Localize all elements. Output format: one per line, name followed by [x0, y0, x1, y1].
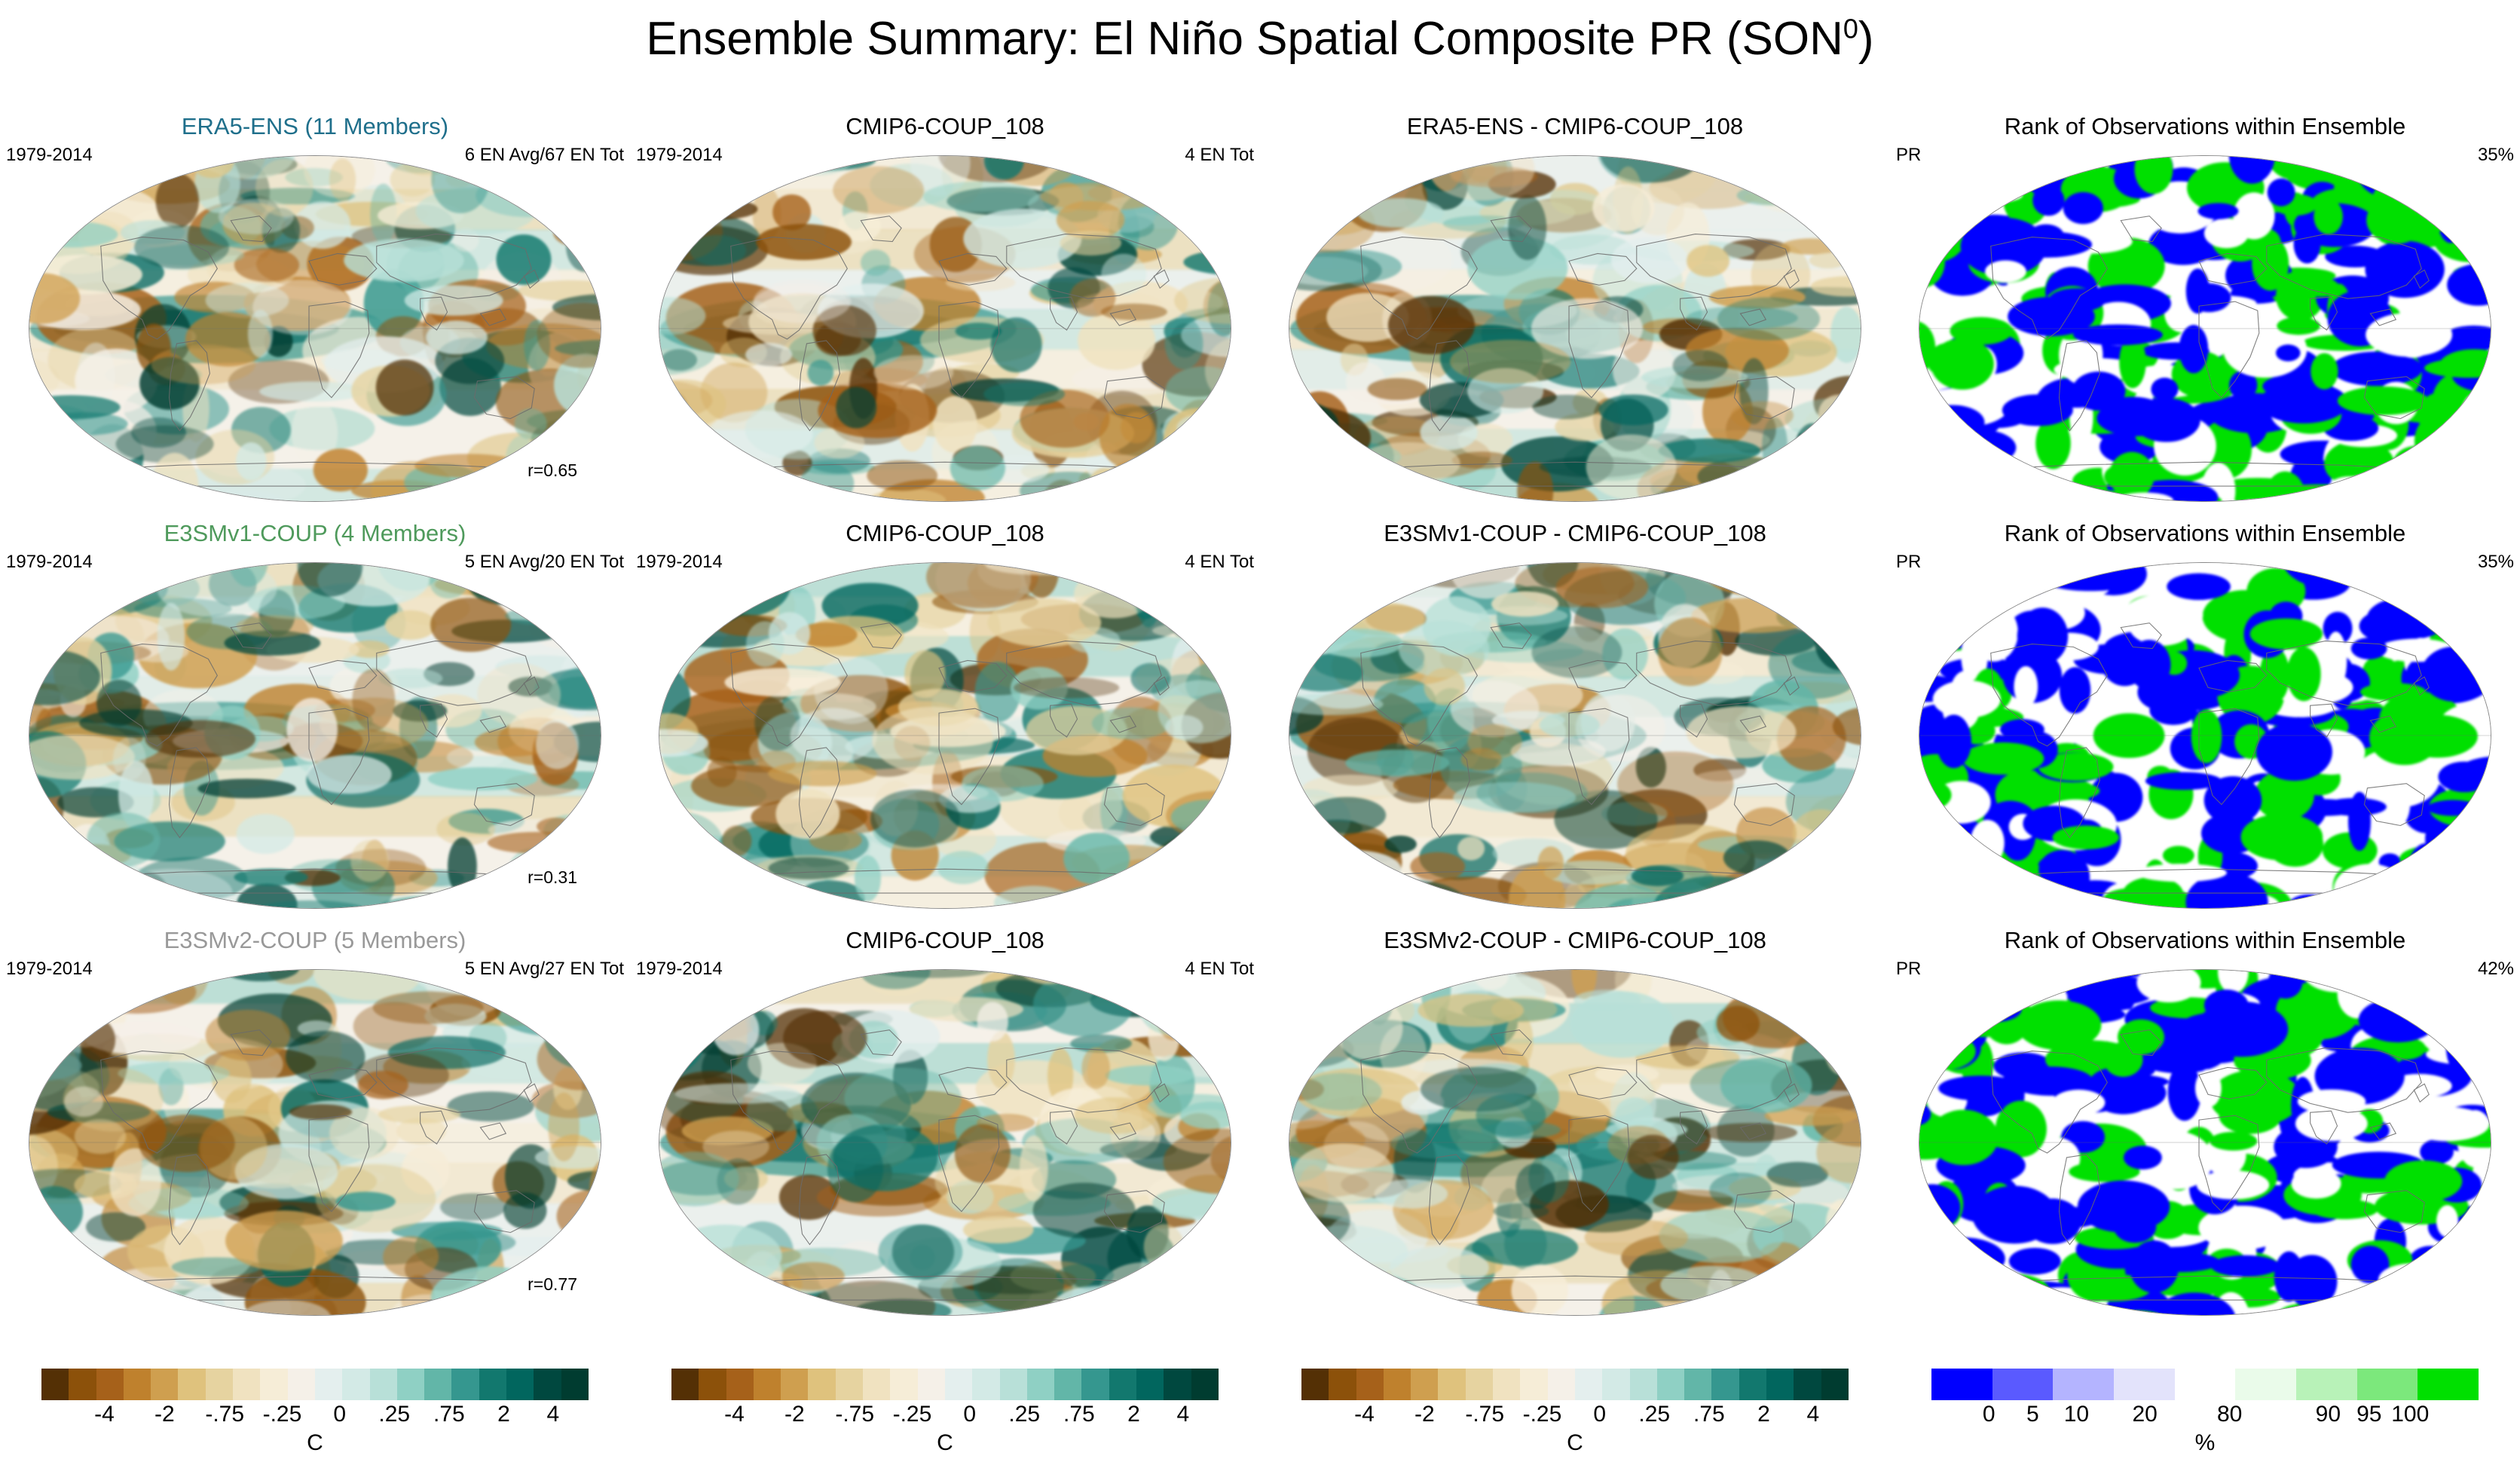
colorbar-ticks: 051020809095100 — [1931, 1402, 2479, 1432]
colorbar-tick: 0 — [1593, 1402, 1606, 1427]
colorbar-swatch — [781, 1369, 808, 1400]
data-field-row3-reference — [659, 969, 1231, 1316]
colorbar-tick: -.75 — [835, 1402, 874, 1427]
colorbar-swatch — [1329, 1369, 1356, 1400]
colorbar-swatch — [260, 1369, 287, 1400]
cbar-col4: 051020809095100% — [1890, 1361, 2520, 1459]
data-field-row1-rank — [1919, 155, 2491, 502]
colorbar-swatch — [2053, 1369, 2114, 1400]
colorbar-tick: 4 — [1176, 1402, 1189, 1427]
colorbar-tick: 0 — [333, 1402, 346, 1427]
page-title-text: Ensemble Summary: El Niño Spatial Compos… — [646, 13, 1843, 65]
colorbar-ticks: -4-2-.75-.250.25.7524 — [41, 1402, 589, 1432]
panel-title-row1-rank: Rank of Observations within Ensemble — [1890, 113, 2520, 140]
map-panel-row3-model: E3SMv2-COUP (5 Members)1979-20145 EN Avg… — [0, 927, 630, 1334]
data-field-row3-model — [29, 969, 601, 1316]
colorbar-swatch — [178, 1369, 205, 1400]
map-row2-reference — [659, 562, 1231, 909]
colorbar-swatch — [699, 1369, 726, 1400]
colorbar-swatch — [945, 1369, 972, 1400]
map-panel-row2-rank: Rank of Observations within EnsemblePR35… — [1890, 520, 2520, 927]
colorbar-strip — [1301, 1369, 1849, 1400]
colorbar-tick: 0 — [963, 1402, 976, 1427]
map-row1-model — [29, 155, 601, 502]
map-row1-difference — [1289, 155, 1861, 502]
map-panel-row1-model: ERA5-ENS (11 Members)1979-20146 EN Avg/6… — [0, 113, 630, 520]
colorbar-swatch — [1301, 1369, 1329, 1400]
colorbar-tick: 100 — [2391, 1402, 2429, 1427]
panel-title-row2-difference: E3SMv1-COUP - CMIP6-COUP_108 — [1260, 520, 1890, 547]
map-panel-row1-reference: CMIP6-COUP_1081979-20144 EN Tot — [630, 113, 1260, 520]
globe-outline-row3-difference — [1289, 969, 1861, 1316]
globe-outline-row1-rank — [1919, 155, 2491, 502]
colorbar-strip — [1931, 1369, 2479, 1400]
map-panel-row2-difference: E3SMv1-COUP - CMIP6-COUP_108 — [1260, 520, 1890, 927]
colorbar-swatch — [1766, 1369, 1794, 1400]
colorbar-swatch — [69, 1369, 96, 1400]
colorbar-tick: -.75 — [205, 1402, 244, 1427]
colorbar-swatch — [2235, 1369, 2296, 1400]
cbar-col3: -4-2-.75-.250.25.7524C — [1260, 1361, 1890, 1459]
colorbar-tick: -.25 — [893, 1402, 932, 1427]
colorbar-swatch — [288, 1369, 315, 1400]
colorbar-swatch — [424, 1369, 451, 1400]
map-row3-difference — [1289, 969, 1861, 1316]
colorbar-swatch — [96, 1369, 124, 1400]
colorbar-swatch — [1992, 1369, 2054, 1400]
page-title: Ensemble Summary: El Niño Spatial Compos… — [0, 12, 2520, 66]
colorbar-strip — [671, 1369, 1219, 1400]
page-title-superscript: 0 — [1843, 13, 1858, 44]
map-panel-row3-difference: E3SMv2-COUP - CMIP6-COUP_108 — [1260, 927, 1890, 1334]
globe-outline-row3-model — [29, 969, 601, 1316]
colorbar-swatch — [233, 1369, 260, 1400]
colorbar-swatch — [863, 1369, 890, 1400]
colorbar-tick: .25 — [1638, 1402, 1670, 1427]
colorbar-swatch — [2296, 1369, 2357, 1400]
colorbar-unit: C — [630, 1430, 1260, 1456]
data-field-row2-reference — [659, 562, 1231, 909]
map-row1-rank — [1919, 155, 2491, 502]
colorbar-tick: 4 — [1806, 1402, 1819, 1427]
colorbar-tick: -2 — [784, 1402, 805, 1427]
colorbar-swatch — [1794, 1369, 1821, 1400]
map-panel-row2-model: E3SMv1-COUP (4 Members)1979-20145 EN Avg… — [0, 520, 630, 927]
globe-outline-row2-reference — [659, 562, 1231, 909]
colorbar-tick: -.25 — [1523, 1402, 1562, 1427]
colorbar-swatch — [1384, 1369, 1411, 1400]
map-row3-rank — [1919, 969, 2491, 1316]
colorbar-swatch — [534, 1369, 561, 1400]
colorbar-unit: C — [0, 1430, 630, 1456]
colorbar-swatch — [397, 1369, 424, 1400]
globe-outline-row2-model — [29, 562, 601, 909]
colorbar-tick: .75 — [1693, 1402, 1725, 1427]
colorbar-swatch — [2418, 1369, 2479, 1400]
colorbar-swatch — [1466, 1369, 1493, 1400]
cbar-col2: -4-2-.75-.250.25.7524C — [630, 1361, 1260, 1459]
colorbar-swatch — [1164, 1369, 1191, 1400]
colorbar-swatch — [41, 1369, 69, 1400]
panel-title-row3-reference: CMIP6-COUP_108 — [630, 927, 1260, 954]
panel-title-row3-difference: E3SMv2-COUP - CMIP6-COUP_108 — [1260, 927, 1890, 954]
panel-title-row3-rank: Rank of Observations within Ensemble — [1890, 927, 2520, 954]
colorbar-tick: .75 — [433, 1402, 465, 1427]
panel-variable-row3-rank: PR — [1896, 959, 1921, 980]
map-panel-row2-reference: CMIP6-COUP_1081979-20144 EN Tot — [630, 520, 1260, 927]
colorbar-swatch — [808, 1369, 835, 1400]
map-row3-reference — [659, 969, 1231, 1316]
colorbar-swatch — [370, 1369, 397, 1400]
colorbar-swatch — [1438, 1369, 1465, 1400]
data-field-row2-rank — [1919, 562, 2491, 909]
colorbar-swatch — [479, 1369, 506, 1400]
colorbar-swatch — [1739, 1369, 1766, 1400]
globe-outline-row3-rank — [1919, 969, 2491, 1316]
data-field-row1-difference — [1289, 155, 1861, 502]
colorbar-swatch — [2357, 1369, 2418, 1400]
panel-title-row2-model: E3SMv1-COUP (4 Members) — [0, 520, 630, 547]
colorbar-tick: 2 — [497, 1402, 510, 1427]
map-panel-row1-difference: ERA5-ENS - CMIP6-COUP_108 — [1260, 113, 1890, 520]
colorbar-swatch — [1356, 1369, 1384, 1400]
colorbar-swatch — [1711, 1369, 1739, 1400]
colorbar-swatch — [1109, 1369, 1136, 1400]
colorbar-ticks: -4-2-.75-.250.25.7524 — [1301, 1402, 1849, 1432]
data-field-row1-reference — [659, 155, 1231, 502]
panel-title-row2-rank: Rank of Observations within Ensemble — [1890, 520, 2520, 547]
colorbar-tick: 2 — [1127, 1402, 1140, 1427]
colorbar-strip — [41, 1369, 589, 1400]
colorbar-tick: 80 — [2217, 1402, 2242, 1427]
panel-title-row3-model: E3SMv2-COUP (5 Members) — [0, 927, 630, 954]
panel-variable-row2-rank: PR — [1896, 552, 1921, 573]
map-panel-row1-rank: Rank of Observations within EnsemblePR35… — [1890, 113, 2520, 520]
colorbar-swatch — [671, 1369, 699, 1400]
colorbar-swatch — [124, 1369, 151, 1400]
map-panel-row3-reference: CMIP6-COUP_1081979-20144 EN Tot — [630, 927, 1260, 1334]
colorbar-swatch — [1136, 1369, 1164, 1400]
colorbar-swatch — [2175, 1369, 2236, 1400]
colorbar-tick: -.25 — [263, 1402, 302, 1427]
globe-outline-row2-rank — [1919, 562, 2491, 909]
colorbar-swatch — [1630, 1369, 1657, 1400]
globe-outline-row1-model — [29, 155, 601, 502]
colorbar-tick: 5 — [2026, 1402, 2039, 1427]
colorbar-swatch — [1520, 1369, 1547, 1400]
colorbar-swatch — [890, 1369, 917, 1400]
colorbar-swatch — [1602, 1369, 1629, 1400]
panel-title-row1-reference: CMIP6-COUP_108 — [630, 113, 1260, 140]
colorbar-swatch — [1493, 1369, 1520, 1400]
map-row2-difference — [1289, 562, 1861, 909]
colorbar-swatch — [754, 1369, 781, 1400]
map-panel-row3-rank: Rank of Observations within EnsemblePR42… — [1890, 927, 2520, 1334]
colorbar-swatch — [1191, 1369, 1219, 1400]
colorbar-tick: 2 — [1757, 1402, 1770, 1427]
data-field-row2-model — [29, 562, 601, 909]
globe-outline-row1-difference — [1289, 155, 1861, 502]
data-field-row2-difference — [1289, 562, 1861, 909]
colorbar-swatch — [918, 1369, 945, 1400]
colorbar-swatch — [1027, 1369, 1054, 1400]
colorbar-swatch — [1548, 1369, 1575, 1400]
colorbar-swatch — [1081, 1369, 1109, 1400]
panel-variable-row1-rank: PR — [1896, 145, 1921, 166]
colorbar-swatch — [342, 1369, 369, 1400]
colorbar-swatch — [1931, 1369, 1992, 1400]
globe-outline-row1-reference — [659, 155, 1231, 502]
colorbar-swatch — [2114, 1369, 2175, 1400]
colorbar-tick: -2 — [1414, 1402, 1435, 1427]
colorbar-tick: -.75 — [1465, 1402, 1504, 1427]
figure-root: Ensemble Summary: El Niño Spatial Compos… — [0, 0, 2520, 1462]
colorbar-swatch — [506, 1369, 534, 1400]
map-row2-model — [29, 562, 601, 909]
colorbar-unit: % — [1890, 1430, 2520, 1456]
globe-outline-row3-reference — [659, 969, 1231, 1316]
colorbar-tick: -4 — [1354, 1402, 1375, 1427]
colorbar-ticks: -4-2-.75-.250.25.7524 — [671, 1402, 1219, 1432]
colorbar-tick: 10 — [2064, 1402, 2089, 1427]
colorbar-swatch — [206, 1369, 233, 1400]
colorbar-swatch — [1657, 1369, 1684, 1400]
colorbar-tick: -4 — [724, 1402, 745, 1427]
page-title-close: ) — [1858, 13, 1874, 65]
colorbar-unit: C — [1260, 1430, 1890, 1456]
colorbar-swatch — [1411, 1369, 1438, 1400]
data-field-row3-difference — [1289, 969, 1861, 1316]
map-row3-model — [29, 969, 601, 1316]
colorbar-tick: .75 — [1063, 1402, 1095, 1427]
colorbar-tick: 4 — [546, 1402, 559, 1427]
colorbar-swatch — [451, 1369, 479, 1400]
panel-title-row1-difference: ERA5-ENS - CMIP6-COUP_108 — [1260, 113, 1890, 140]
colorbar-swatch — [972, 1369, 999, 1400]
colorbar-tick: -2 — [154, 1402, 175, 1427]
panel-title-row2-reference: CMIP6-COUP_108 — [630, 520, 1260, 547]
colorbar-swatch — [315, 1369, 342, 1400]
colorbar-tick: -4 — [94, 1402, 115, 1427]
data-field-row3-rank — [1919, 969, 2491, 1316]
colorbar-swatch — [1000, 1369, 1027, 1400]
colorbar-swatch — [726, 1369, 754, 1400]
colorbar-swatch — [1575, 1369, 1602, 1400]
colorbar-swatch — [561, 1369, 589, 1400]
colorbar-swatch — [1684, 1369, 1711, 1400]
data-field-row1-model — [29, 155, 601, 502]
colorbar-tick: .25 — [378, 1402, 410, 1427]
colorbar-swatch — [151, 1369, 178, 1400]
colorbar-swatch — [1821, 1369, 1849, 1400]
colorbar-tick: 90 — [2316, 1402, 2341, 1427]
map-row2-rank — [1919, 562, 2491, 909]
colorbar-tick: 20 — [2132, 1402, 2157, 1427]
panel-title-row1-model: ERA5-ENS (11 Members) — [0, 113, 630, 140]
map-row1-reference — [659, 155, 1231, 502]
cbar-col1: -4-2-.75-.250.25.7524C — [0, 1361, 630, 1459]
colorbar-tick: 0 — [1983, 1402, 1996, 1427]
colorbar-swatch — [1054, 1369, 1081, 1400]
colorbar-tick: .25 — [1008, 1402, 1040, 1427]
colorbar-tick: 95 — [2356, 1402, 2381, 1427]
colorbar-swatch — [836, 1369, 863, 1400]
globe-outline-row2-difference — [1289, 562, 1861, 909]
